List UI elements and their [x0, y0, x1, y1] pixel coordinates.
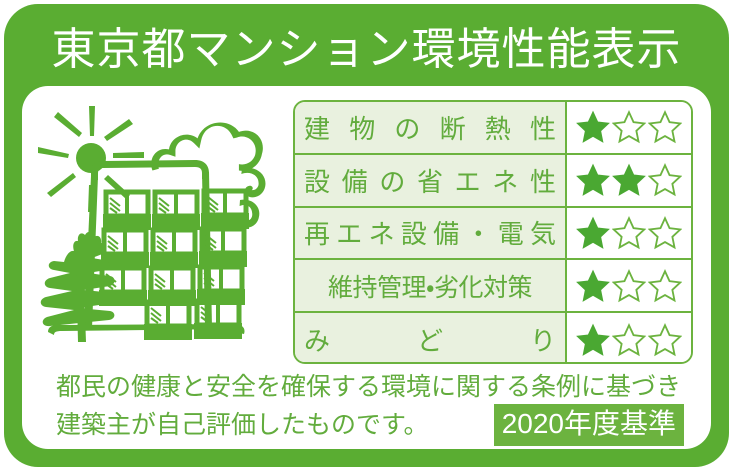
star-empty-icon	[648, 110, 682, 144]
star-empty-icon	[648, 216, 682, 250]
table-row: 維持管理・劣化対策	[295, 260, 691, 313]
star-filled-icon	[612, 163, 646, 197]
star-empty-icon	[612, 110, 646, 144]
star-empty-icon	[648, 163, 682, 197]
footer-disclaimer: 都民の健康と安全を確保する環境に関する条例に基づき 建築主が自己評価したものです…	[56, 370, 680, 442]
star-filled-icon	[576, 163, 610, 197]
status-badge: 2020年度基準	[494, 404, 684, 446]
building-windows	[99, 191, 249, 340]
rating-stars-renewable-energy	[567, 208, 691, 259]
rating-label-renewable-energy: 再エネ設備・電気	[295, 208, 567, 259]
table-row: 建物の断熱性	[295, 102, 691, 155]
star-empty-icon	[648, 269, 682, 303]
rating-stars-insulation	[567, 102, 691, 153]
rating-label-maintenance: 維持管理・劣化対策	[295, 260, 567, 311]
disclaimer-line-1: 都民の健康と安全を確保する環境に関する条例に基づき	[56, 370, 680, 404]
rating-stars-energy-saving	[567, 155, 691, 206]
disclaimer-line-2: 建築主が自己評価したものです。	[56, 408, 429, 442]
illustration-graphic	[34, 100, 286, 362]
star-empty-icon	[612, 323, 646, 357]
rating-stars-maintenance	[567, 260, 691, 311]
table-row: 設備の省エネ性	[295, 155, 691, 208]
rating-label-energy-saving: 設備の省エネ性	[295, 155, 567, 206]
environmental-performance-label: 東京都マンション環境性能表示	[0, 0, 733, 471]
star-filled-icon	[576, 323, 610, 357]
table-row: みどり	[295, 313, 691, 364]
disclaimer-line-2-row: 建築主が自己評価したものです。 2020年度基準	[56, 404, 680, 446]
rating-label-insulation: 建物の断熱性	[295, 102, 567, 153]
star-empty-icon	[648, 323, 682, 357]
rating-label-greenery: みどり	[295, 313, 567, 364]
ratings-table: 建物の断熱性 設備の省エネ性 再エネ設備・電気	[293, 100, 693, 364]
star-filled-icon	[576, 216, 610, 250]
title-bar: 東京都マンション環境性能表示	[0, 14, 733, 86]
star-filled-icon	[576, 110, 610, 144]
star-empty-icon	[612, 216, 646, 250]
star-filled-icon	[576, 269, 610, 303]
page-title: 東京都マンション環境性能表示	[52, 28, 682, 72]
star-empty-icon	[612, 269, 646, 303]
table-row: 再エネ設備・電気	[295, 208, 691, 261]
rating-stars-greenery	[567, 313, 691, 364]
